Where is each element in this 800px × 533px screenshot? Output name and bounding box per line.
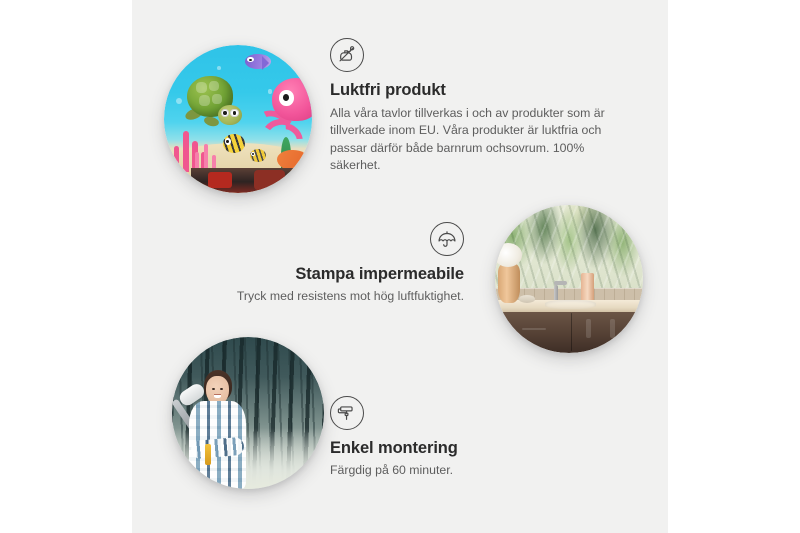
feature-odour-free-text: Luktfri produkt Alla våra tavlor tillver… xyxy=(330,38,630,175)
underwater-scene xyxy=(164,45,312,193)
product-photo-woman-paint-roller xyxy=(172,337,324,489)
no-fragrance-icon xyxy=(330,38,364,72)
purple-fish-icon xyxy=(245,54,270,69)
person-icon xyxy=(184,370,272,489)
bathroom-scene xyxy=(495,205,643,353)
bubble-icon xyxy=(217,66,221,70)
bottle-icon xyxy=(581,273,594,303)
feature-description: Färgdig på 60 minuter. xyxy=(330,462,630,479)
feature-title: Enkel montering xyxy=(330,439,630,458)
forest-wallpaper-scene xyxy=(172,337,324,489)
feature-title: Luktfri produkt xyxy=(330,81,630,100)
feature-waterproof-text: Stampa impermeabile Tryck med resistens … xyxy=(182,222,464,305)
sea-turtle-icon xyxy=(183,75,253,134)
feature-title: Stampa impermeabile xyxy=(182,265,464,284)
umbrella-icon xyxy=(430,222,464,256)
bubble-icon xyxy=(176,98,182,104)
product-photo-bathroom-vanity xyxy=(495,205,643,353)
vase-icon xyxy=(498,264,520,302)
feature-description: Tryck med resistens mot hög luftfuktighe… xyxy=(182,288,464,305)
product-photo-underwater-mural xyxy=(164,45,312,193)
sink-icon xyxy=(545,300,595,309)
flower-icon xyxy=(495,243,522,267)
feature-description: Alla våra tavlor tillverkas i och av pro… xyxy=(330,105,618,175)
product-features-panel: Luktfri produkt Alla våra tavlor tillver… xyxy=(132,0,668,533)
soap-dish-icon xyxy=(519,295,535,302)
screenshot-stage: Luktfri produkt Alla våra tavlor tillver… xyxy=(0,0,800,533)
yellow-fish-icon xyxy=(250,149,266,162)
paint-roller-icon xyxy=(330,396,364,430)
cabinet-icon xyxy=(495,312,643,353)
feature-easy-mounting-text: Enkel montering Färgdig på 60 minuter. xyxy=(330,396,630,479)
